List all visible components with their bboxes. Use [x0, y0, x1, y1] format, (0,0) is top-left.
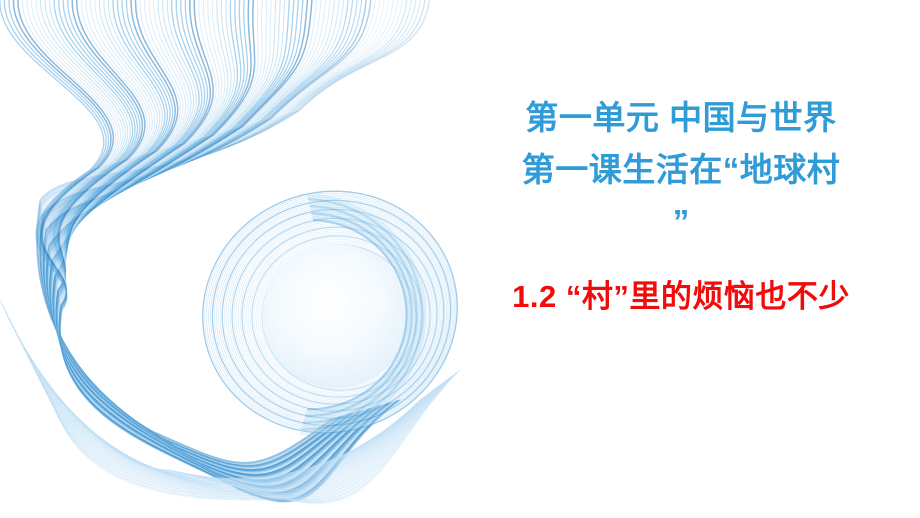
title-line-1: 第一单元 中国与世界 — [462, 92, 900, 144]
subtitle: 1.2 “村”里的烦恼也不少 — [462, 277, 900, 317]
title-block: 第一单元 中国与世界 第一课生活在“地球村 ” — [462, 92, 900, 248]
slide-canvas: 第一单元 中国与世界 第一课生活在“地球村 ” 1.2 “村”里的烦恼也不少 — [0, 0, 920, 518]
title-line-2: 第一课生活在“地球村 — [462, 144, 900, 196]
title-line-3: ” — [462, 196, 900, 248]
background-artwork — [0, 0, 920, 518]
